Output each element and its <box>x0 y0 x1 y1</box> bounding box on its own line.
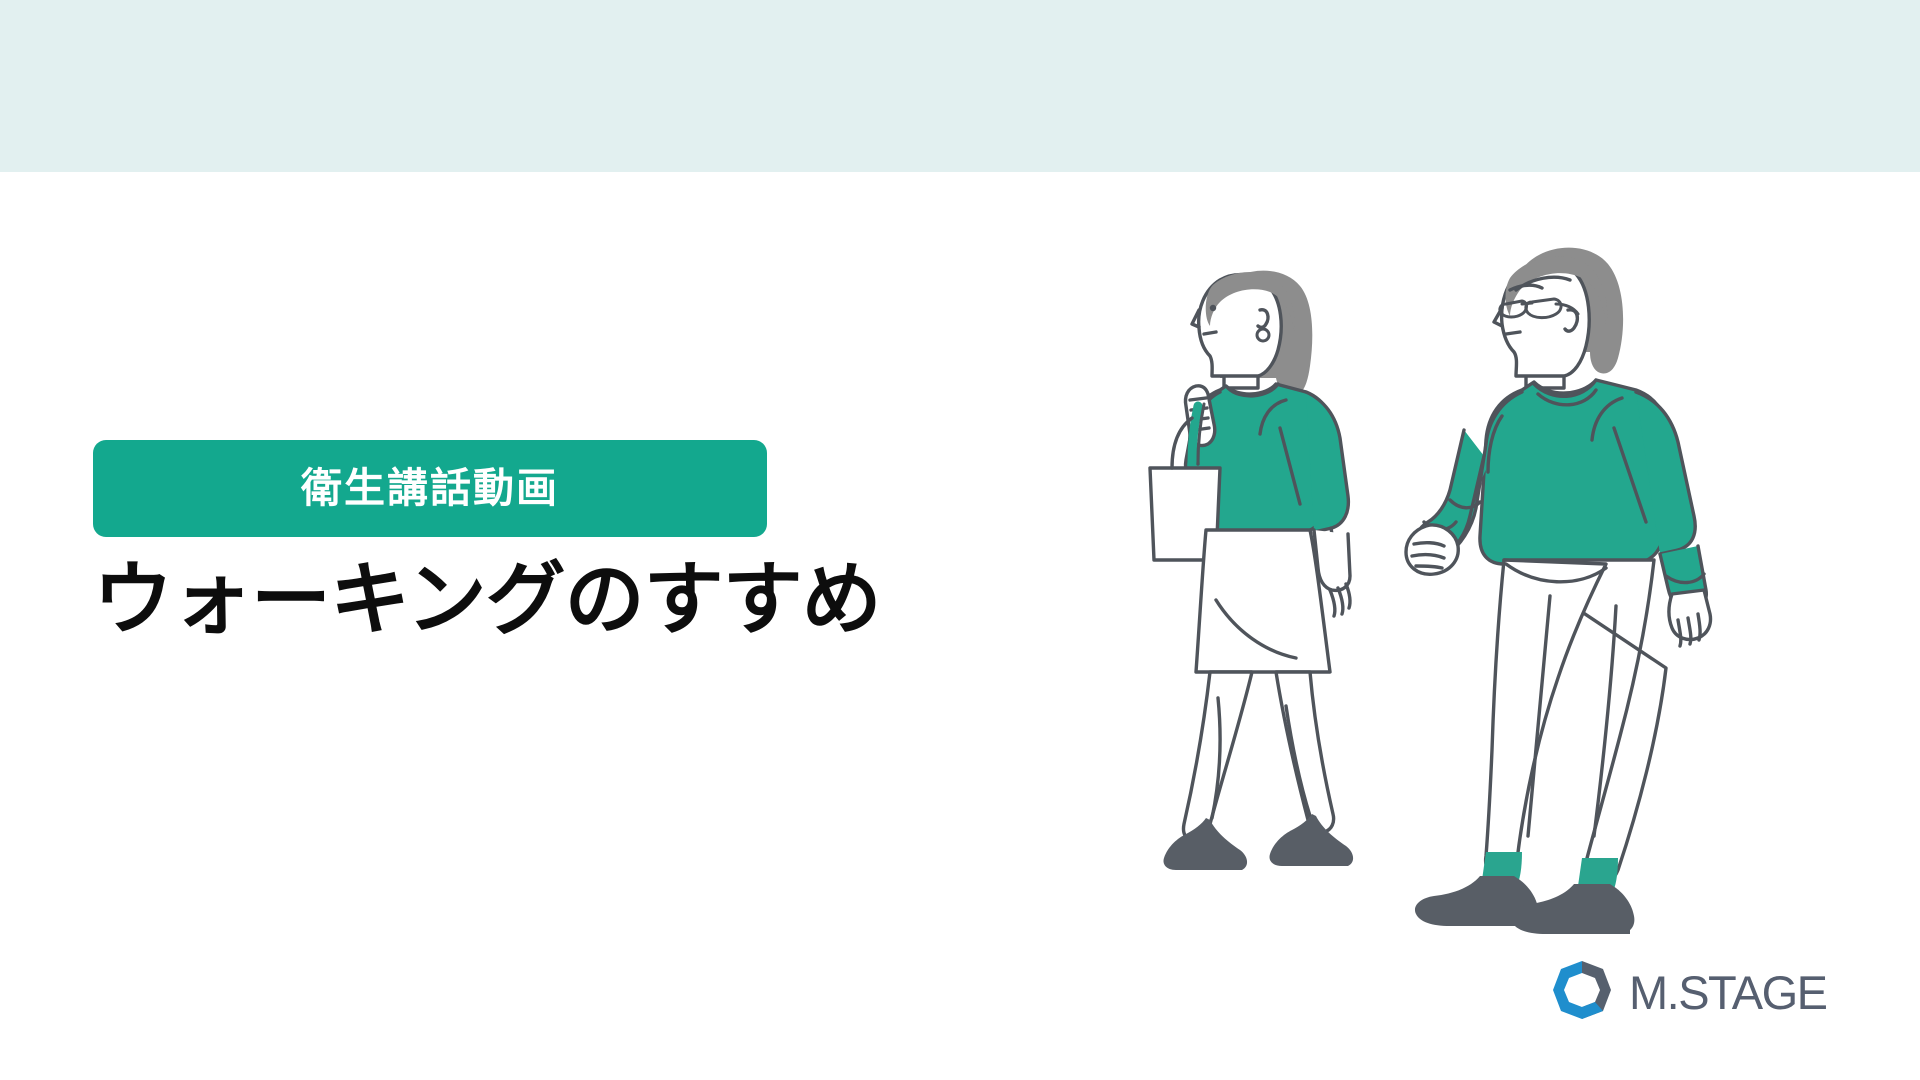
mstage-octagon-icon <box>1551 959 1613 1025</box>
two-people-walking-illustration <box>1100 228 1760 958</box>
category-badge-label: 衛生講話動画 <box>301 468 559 509</box>
mstage-logo-text: M.STAGE <box>1629 969 1827 1016</box>
category-badge: 衛生講話動画 <box>93 440 767 537</box>
page-title: ウォーキングのすすめ <box>93 559 993 641</box>
mstage-logo: M.STAGE <box>1551 954 1881 1030</box>
slide-canvas: 衛生講話動画 ウォーキングのすすめ <box>0 0 1920 1080</box>
woman-figure <box>1150 271 1353 870</box>
top-accent-band <box>0 0 1920 172</box>
title-block: 衛生講話動画 ウォーキングのすすめ <box>93 440 993 641</box>
man-figure <box>1406 248 1711 934</box>
